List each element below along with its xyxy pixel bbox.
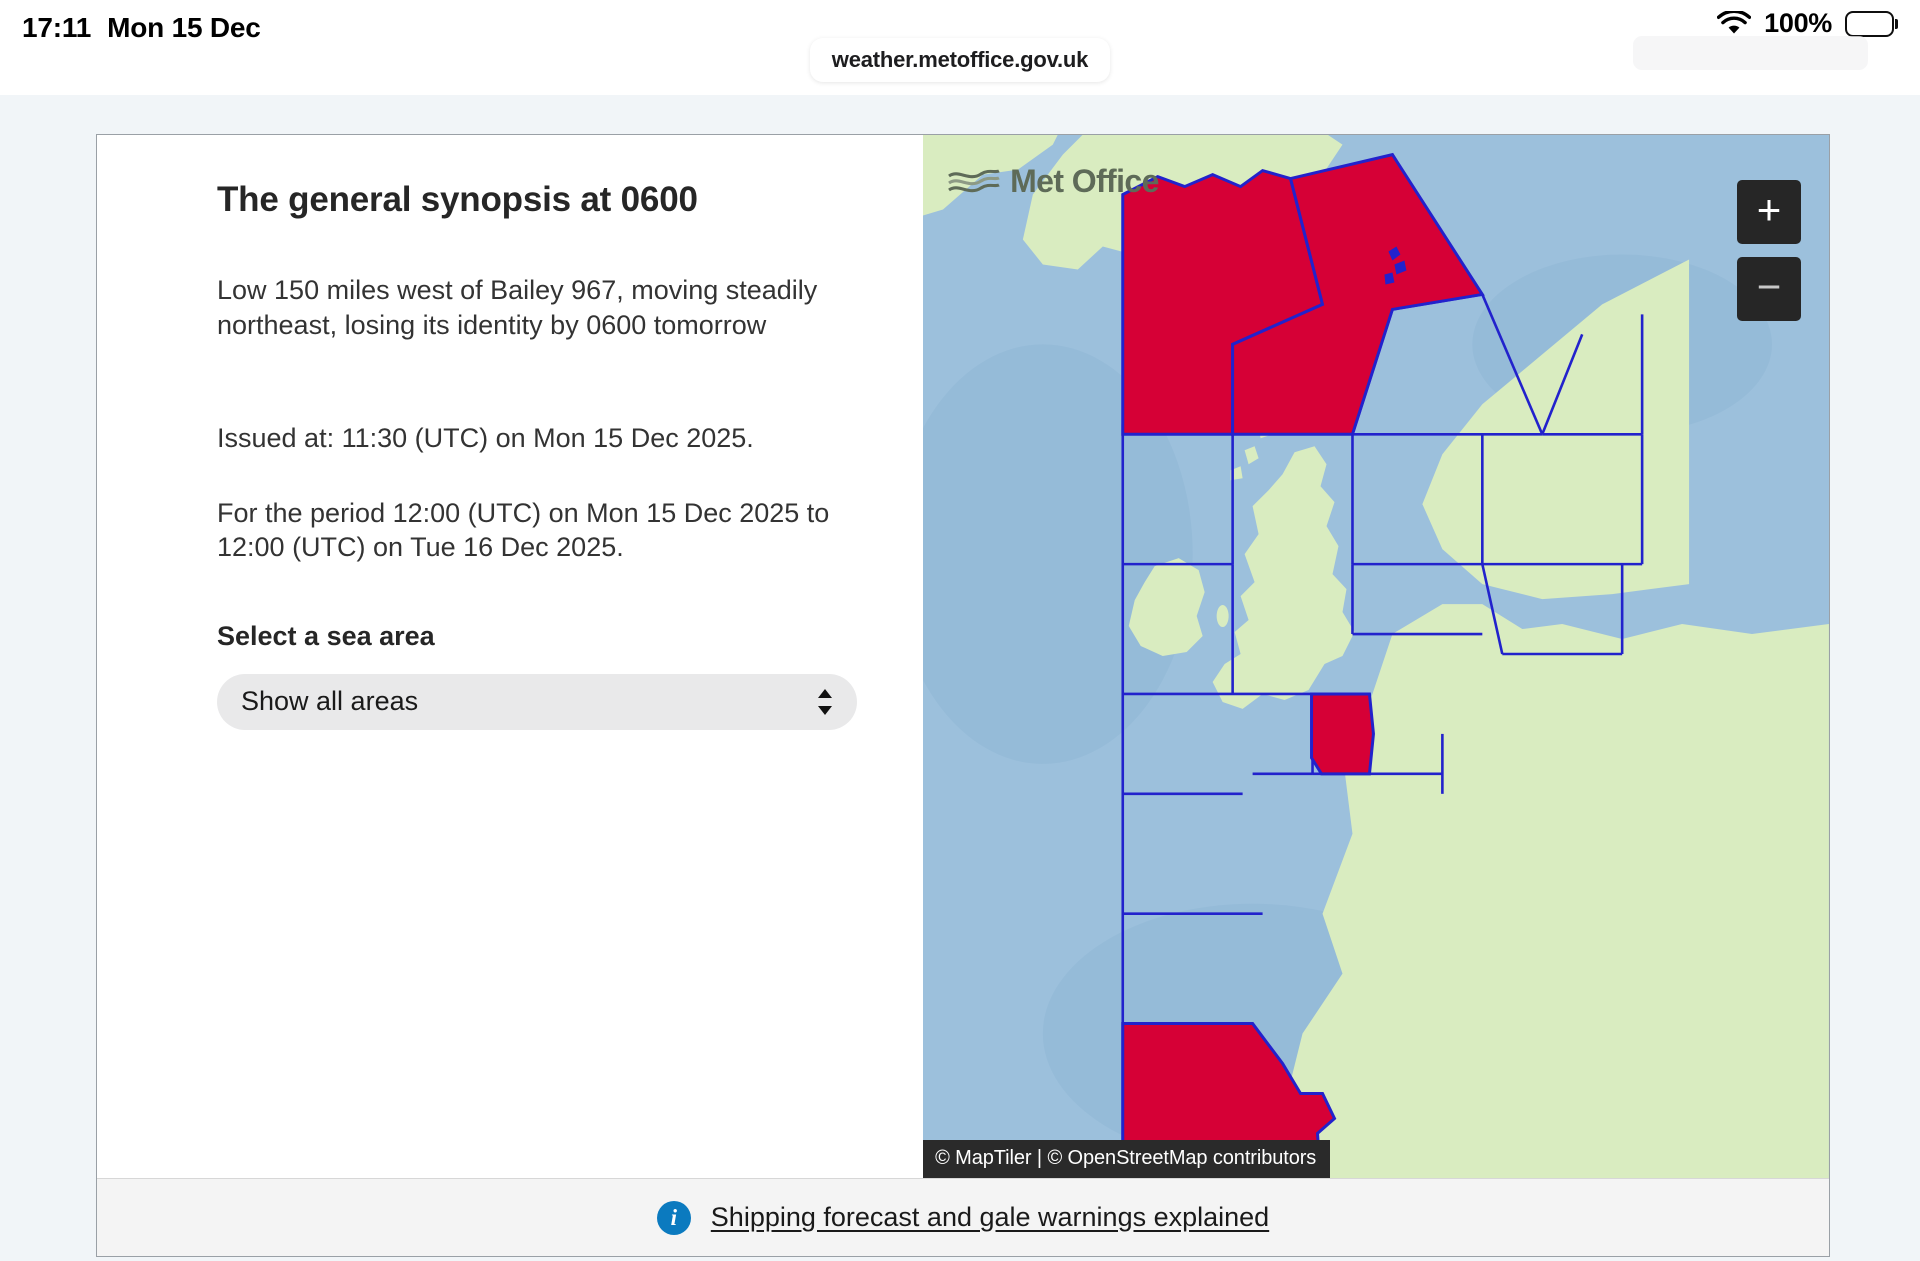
sea-area-selected-value: Show all areas — [241, 686, 815, 717]
shipping-forecast-card: The general synopsis at 0600 Low 150 mil… — [96, 134, 1830, 1257]
url-text[interactable]: weather.metoffice.gov.uk — [810, 38, 1110, 82]
map-attribution[interactable]: © MapTiler | © OpenStreetMap contributor… — [923, 1140, 1330, 1178]
synopsis-pane: The general synopsis at 0600 Low 150 mil… — [97, 135, 923, 1178]
met-office-waves-icon — [947, 168, 1001, 195]
url-bar: weather.metoffice.gov.uk — [0, 38, 1920, 86]
status-bar-right: 100% — [1717, 8, 1894, 39]
sea-areas-map[interactable]: Met Office + − © MapTiler | © OpenStreet… — [923, 135, 1829, 1178]
chevron-up-down-icon — [815, 685, 835, 719]
card-footer: i Shipping forecast and gale warnings ex… — [97, 1178, 1829, 1256]
battery-percent: 100% — [1764, 8, 1832, 39]
sea-area-select[interactable]: Show all areas — [217, 674, 857, 730]
wifi-icon — [1717, 11, 1751, 37]
card-body: The general synopsis at 0600 Low 150 mil… — [97, 135, 1829, 1178]
forecast-period-text: For the period 12:00 (UTC) on Mon 15 Dec… — [217, 496, 859, 565]
sea-area-select-label: Select a sea area — [217, 621, 879, 652]
zoom-in-button[interactable]: + — [1737, 180, 1801, 244]
battery-full-icon — [1845, 11, 1894, 37]
met-office-wordmark: Met Office — [1010, 163, 1159, 200]
info-circle-icon: i — [657, 1201, 691, 1235]
shipping-forecast-explained-link[interactable]: Shipping forecast and gale warnings expl… — [711, 1202, 1269, 1233]
met-office-logo: Met Office — [947, 163, 1159, 200]
page-canvas: The general synopsis at 0600 Low 150 mil… — [0, 95, 1920, 1261]
synopsis-body-text: Low 150 miles west of Bailey 967, moving… — [217, 273, 859, 342]
page-title: The general synopsis at 0600 — [217, 179, 879, 221]
map-zoom-controls: + − — [1737, 180, 1801, 321]
zoom-out-button[interactable]: − — [1737, 257, 1801, 321]
issued-at-text: Issued at: 11:30 (UTC) on Mon 15 Dec 202… — [217, 421, 859, 456]
